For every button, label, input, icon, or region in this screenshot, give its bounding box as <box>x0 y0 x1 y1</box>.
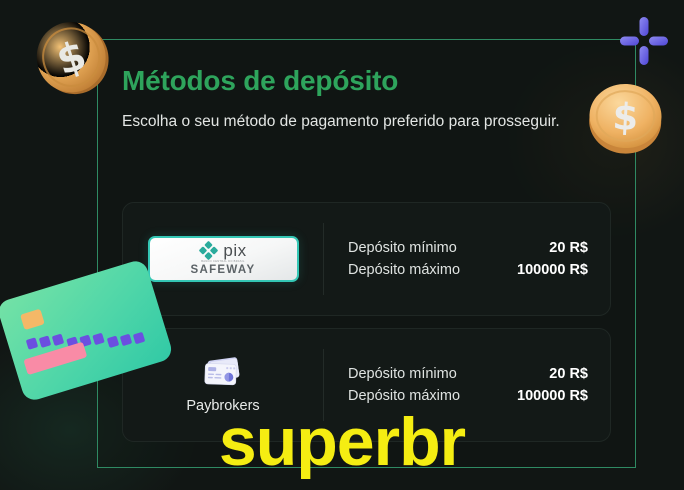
maximum-deposit-label: Depósito máximo <box>348 388 460 404</box>
deposit-methods-list: pix BANCO CENTRAL DO BRASIL SAFEWAY Depó… <box>122 202 611 454</box>
pix-logo-card: pix BANCO CENTRAL DO BRASIL SAFEWAY <box>148 236 299 282</box>
method-amounts: Depósito mínimo 20 R$ Depósito máximo 10… <box>324 240 610 278</box>
maximum-deposit-label: Depósito máximo <box>348 262 460 278</box>
minimum-deposit-row: Depósito mínimo 20 R$ <box>348 366 588 382</box>
deposit-method-paybrokers[interactable]: Paybrokers Depósito mínimo 20 R$ Depósit… <box>122 328 611 442</box>
maximum-deposit-row: Depósito máximo 100000 R$ <box>348 262 588 278</box>
deposit-methods-screen: Métodos de depósito Escolha o seu método… <box>0 0 684 490</box>
svg-text:$: $ <box>612 95 640 139</box>
minimum-deposit-row: Depósito mínimo 20 R$ <box>348 240 588 256</box>
deposit-method-pix-safeway[interactable]: pix BANCO CENTRAL DO BRASIL SAFEWAY Depó… <box>122 202 611 316</box>
method-name-paybrokers: Paybrokers <box>186 398 259 414</box>
maximum-deposit-row: Depósito máximo 100000 R$ <box>348 388 588 404</box>
maximum-deposit-value: 100000 R$ <box>517 388 588 404</box>
pix-diamond-icon <box>199 241 218 260</box>
pix-wordmark: pix <box>223 242 246 259</box>
credit-card-icon <box>200 356 246 390</box>
deposit-panel: Métodos de depósito Escolha o seu método… <box>97 39 636 468</box>
minimum-deposit-label: Depósito mínimo <box>348 366 457 382</box>
minimum-deposit-value: 20 R$ <box>549 240 588 256</box>
page-subtitle: Escolha o seu método de pagamento prefer… <box>122 111 572 133</box>
method-amounts: Depósito mínimo 20 R$ Depósito máximo 10… <box>324 366 610 404</box>
pix-logo-top: pix <box>199 241 246 260</box>
maximum-deposit-value: 100000 R$ <box>517 262 588 278</box>
minimum-deposit-value: 20 R$ <box>549 366 588 382</box>
coin-icon-right: $ <box>581 74 670 158</box>
minimum-deposit-label: Depósito mínimo <box>348 240 457 256</box>
pix-brand-safeway: SAFEWAY <box>191 265 256 277</box>
page-title: Métodos de depósito <box>122 66 611 97</box>
plus-sparkle-icon <box>617 14 671 68</box>
